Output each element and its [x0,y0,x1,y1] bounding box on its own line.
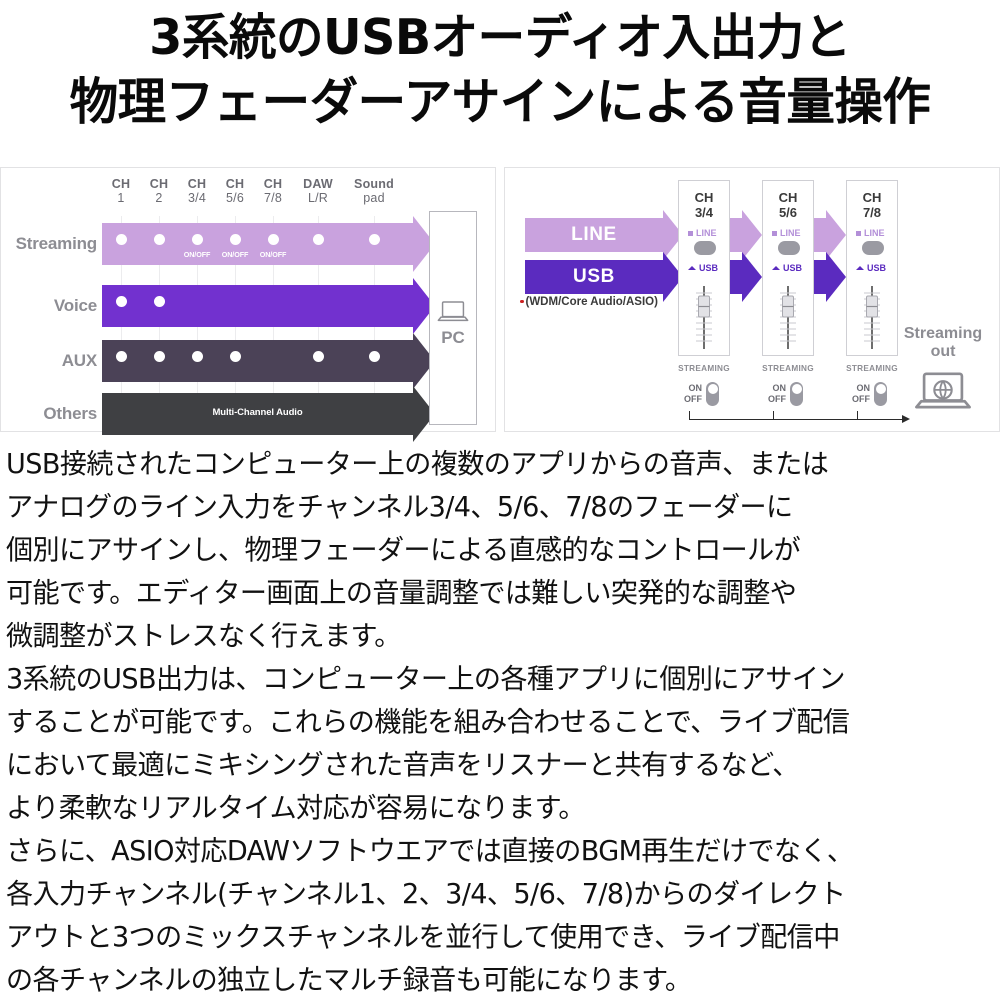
streaming-out-laptop-icon [912,371,974,418]
toggle-lever[interactable] [790,382,803,406]
streaming-label-3: STREAMING [837,364,907,373]
multi-channel-audio-label: Multi-Channel Audio [102,407,413,418]
column-header-line2: L/R [288,191,348,205]
flow-arrow-others: Multi-Channel Audio [102,393,413,435]
usb-source-indicator: USB [772,263,802,273]
channel-strip-3: CH7/8LINEUSB [846,180,898,356]
channel-strip-title: CH7/8 [847,190,897,220]
source-arrow-usb: USB [525,260,663,294]
streaming-out-line2: out [893,343,993,361]
flow-arrow-body [102,285,413,327]
source-arrow-label: USB [525,266,663,288]
streaming-bus-line [689,419,902,420]
square-marker-icon [688,231,693,236]
toggle-off-label: OFF [680,394,702,404]
assign-dot [369,351,380,362]
row-label-others: Others [0,404,97,424]
channel-strip-number: 5/6 [763,205,813,220]
toggle-lever[interactable] [874,382,887,406]
onoff-caption: ON/OFF [219,250,251,259]
flow-arrow-voice [102,285,413,327]
streaming-label-1: STREAMING [669,364,739,373]
inter-strip-arrow-head [742,252,762,302]
diagram-row: CH1CH2CH3/4CH5/6CH7/8DAWL/RSoundpadStrea… [0,167,1000,432]
fader-assign-panel: LINEUSB(WDM/Core Audio/ASIO)CH3/4LINEUSB… [504,167,1000,432]
inter-strip-arrow [730,260,742,294]
body-description: USB接続されたコンピューター上の複数のアプリからの音声、または アナログのライ… [6,443,983,1002]
line-source-indicator: LINE [856,228,885,238]
toggle-lever[interactable] [706,382,719,406]
inter-strip-arrow-body [730,260,742,294]
bullet-dot [520,300,524,304]
line-source-indicator: LINE [772,228,801,238]
fader-icon [860,285,884,356]
page-title-line1: 3系統のUSBオーディオ入出力と [15,6,985,70]
assign-dot [230,351,241,362]
assign-dot [369,234,380,245]
channel-strip-1: CH3/4LINEUSB [678,180,730,356]
triangle-marker-icon [772,266,780,270]
streaming-bus-arrowhead [902,415,910,423]
toggle-off-label: OFF [764,394,786,404]
assign-dot [116,351,127,362]
product-feature-page: 3系統のUSBオーディオ入出力と 物理フェーダーアサインによる音量操作 CH1C… [0,0,1000,1000]
inter-strip-arrow [730,218,742,252]
flow-arrow-body [102,340,413,382]
pc-destination-label: PC [430,328,476,348]
channel-strip-title: CH3/4 [679,190,729,220]
column-header-line1: DAW [288,177,348,191]
assign-dot [116,234,127,245]
line-source-indicator: LINE [688,228,717,238]
column-header-line1: Sound [344,177,404,191]
inter-strip-arrow [814,218,826,252]
inter-strip-arrow-head [826,252,846,302]
source-select-knob[interactable] [694,241,716,255]
usb-source-indicator: USB [856,263,886,273]
source-arrow-line: LINE [525,218,663,252]
channel-strip-2: CH5/6LINEUSB [762,180,814,356]
toggle-off-label: OFF [848,394,870,404]
assign-dot [192,234,203,245]
row-label-streaming: Streaming [0,234,97,254]
assign-dot [154,296,165,307]
channel-strip-title: CH5/6 [763,190,813,220]
usb-source-indicator: USB [688,263,718,273]
assign-dot [116,296,127,307]
column-header-6: DAWL/R [288,177,348,205]
assign-dot [230,234,241,245]
laptop-icon [436,300,470,329]
square-marker-icon [772,231,777,236]
square-marker-icon [856,231,861,236]
toggle-on-label: ON [848,383,870,393]
assign-dot [313,351,324,362]
triangle-marker-icon [688,266,696,270]
assign-dot [313,234,324,245]
column-header-line2: pad [344,191,404,205]
inter-strip-arrow [814,260,826,294]
channel-strip-number: 7/8 [847,205,897,220]
page-title: 3系統のUSBオーディオ入出力と 物理フェーダーアサインによる音量操作 [0,6,1000,134]
page-title-line2: 物理フェーダーアサインによる音量操作 [15,70,985,134]
assign-dot [154,234,165,245]
assign-dot [268,234,279,245]
flow-arrow-streaming: ON/OFFON/OFFON/OFF [102,223,413,265]
streaming-label-2: STREAMING [753,364,823,373]
row-label-voice: Voice [0,296,97,316]
source-format-note: (WDM/Core Audio/ASIO) [520,296,658,308]
row-label-aux: AUX [0,351,97,371]
channel-strip-number: 3/4 [679,205,729,220]
inter-strip-arrow-body [814,260,826,294]
assign-dot [192,351,203,362]
onoff-caption: ON/OFF [257,250,289,259]
pc-destination-box: PC [429,211,477,425]
toggle-on-label: ON [680,383,702,393]
fader-icon [692,285,716,356]
source-select-knob[interactable] [778,241,800,255]
streaming-out-label: Streamingout [893,325,993,361]
toggle-on-label: ON [764,383,786,393]
streaming-out-line1: Streaming [893,325,993,343]
source-arrow-label: LINE [525,224,663,246]
signal-routing-matrix-panel: CH1CH2CH3/4CH5/6CH7/8DAWL/RSoundpadStrea… [0,167,496,432]
triangle-marker-icon [856,266,864,270]
onoff-caption: ON/OFF [181,250,213,259]
inter-strip-arrow-body [814,218,826,252]
assign-dot [154,351,165,362]
flow-arrow-aux [102,340,413,382]
source-select-knob[interactable] [862,241,884,255]
fader-icon [776,285,800,356]
inter-strip-arrow-body [730,218,742,252]
column-header-7: Soundpad [344,177,404,205]
